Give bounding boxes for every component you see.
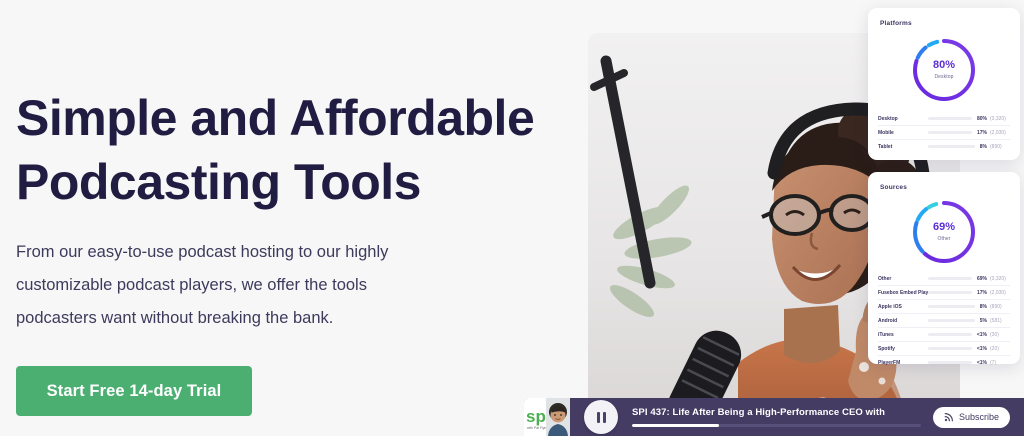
legend-count: (3,320) (990, 116, 1010, 122)
legend-row: Fusebox Embed Player 17% (2,930) (878, 286, 1010, 300)
legend-percent: <1% (977, 360, 987, 366)
legend-count: (30) (990, 332, 1010, 338)
legend-count: (581) (990, 318, 1010, 324)
episode-title: SPI 437: Life After Being a High-Perform… (632, 407, 921, 418)
legend-bar-track (928, 333, 972, 337)
legend-count: (20) (990, 346, 1010, 352)
progress-bar-fill (632, 424, 719, 427)
page-title: Simple and Affordable Podcasting Tools (16, 86, 556, 214)
legend-label: iTunes (878, 332, 928, 338)
sources-donut-chart: 69% Other (908, 196, 980, 268)
legend-label: Apple iOS (878, 304, 928, 310)
legend-percent: 80% (977, 116, 987, 122)
podcast-player-bar: spi with Pat Flynn SPI 437: Life After B… (524, 398, 1024, 436)
player-info: SPI 437: Life After Being a High-Perform… (632, 407, 921, 427)
legend-count: (3,320) (990, 276, 1010, 282)
legend-percent: 8% (980, 304, 987, 310)
legend-row: Apple iOS 8% (890) (878, 300, 1010, 314)
episode-artwork: spi with Pat Flynn (524, 398, 570, 436)
rss-icon (944, 412, 954, 422)
legend-percent: 17% (977, 290, 987, 296)
legend-bar-track (928, 145, 975, 149)
pause-icon (597, 412, 606, 423)
hero-description: From our easy-to-use podcast hosting to … (16, 236, 416, 335)
pause-button[interactable] (584, 400, 618, 434)
legend-bar-track (928, 361, 972, 365)
legend-label: Desktop (878, 116, 928, 122)
legend-percent: 5% (980, 318, 987, 324)
platforms-legend: Desktop 80% (3,320) Mobile 17% (2,930) T… (878, 112, 1010, 153)
legend-label: Mobile (878, 130, 928, 136)
legend-label: Spotify (878, 346, 928, 352)
platforms-donut-chart: 80% Desktop (908, 34, 980, 106)
legend-count: (890) (990, 144, 1010, 150)
platforms-stat-card: Platforms 80% Desk (868, 8, 1020, 160)
legend-percent: 17% (977, 130, 987, 136)
legend-row: Tablet 8% (890) (878, 140, 1010, 153)
legend-bar-track (928, 277, 972, 281)
legend-label: Tablet (878, 144, 928, 150)
legend-count: (2,930) (990, 290, 1010, 296)
legend-label: PlayerFM (878, 360, 928, 366)
legend-row: PlayerFM <1% (7) (878, 356, 1010, 369)
legend-row: Desktop 80% (3,320) (878, 112, 1010, 126)
progress-bar[interactable] (632, 424, 921, 427)
sources-stat-card: Sources 69% (868, 172, 1020, 364)
legend-label: Other (878, 276, 928, 282)
sources-card-title: Sources (880, 184, 907, 191)
legend-bar-track (928, 117, 972, 121)
legend-label: Android (878, 318, 928, 324)
legend-row: Mobile 17% (2,930) (878, 126, 1010, 140)
legend-bar-track (928, 319, 975, 323)
sources-donut-wrap: 69% Other (868, 196, 1020, 268)
sources-legend: Other 69% (3,320) Fusebox Embed Player 1… (878, 272, 1010, 369)
legend-percent: <1% (977, 346, 987, 352)
legend-row: Android 5% (581) (878, 314, 1010, 328)
legend-bar-track (928, 347, 972, 351)
legend-bar-track (928, 291, 972, 295)
legend-percent: <1% (977, 332, 987, 338)
platforms-donut-wrap: 80% Desktop (868, 34, 1020, 106)
legend-percent: 8% (980, 144, 987, 150)
subscribe-button[interactable]: Subscribe (933, 407, 1010, 428)
legend-bar-track (928, 131, 972, 135)
headline-line-1: Simple and Affordable (16, 90, 534, 146)
legend-count: (890) (990, 304, 1010, 310)
legend-count: (2,930) (990, 130, 1010, 136)
headline-line-2: Podcasting Tools (16, 150, 556, 214)
hero-section: Simple and Affordable Podcasting Tools F… (0, 0, 1024, 436)
legend-row: iTunes <1% (30) (878, 328, 1010, 342)
platforms-card-title: Platforms (880, 20, 912, 27)
legend-row: Spotify <1% (20) (878, 342, 1010, 356)
subscribe-label: Subscribe (959, 412, 999, 422)
start-free-trial-button[interactable]: Start Free 14-day Trial (16, 366, 252, 416)
legend-label: Fusebox Embed Player (878, 290, 928, 296)
legend-bar-track (928, 305, 975, 309)
legend-row: Other 69% (3,320) (878, 272, 1010, 286)
legend-count: (7) (990, 360, 1010, 366)
legend-percent: 69% (977, 276, 987, 282)
svg-text:with Pat Flynn: with Pat Flynn (527, 426, 548, 430)
